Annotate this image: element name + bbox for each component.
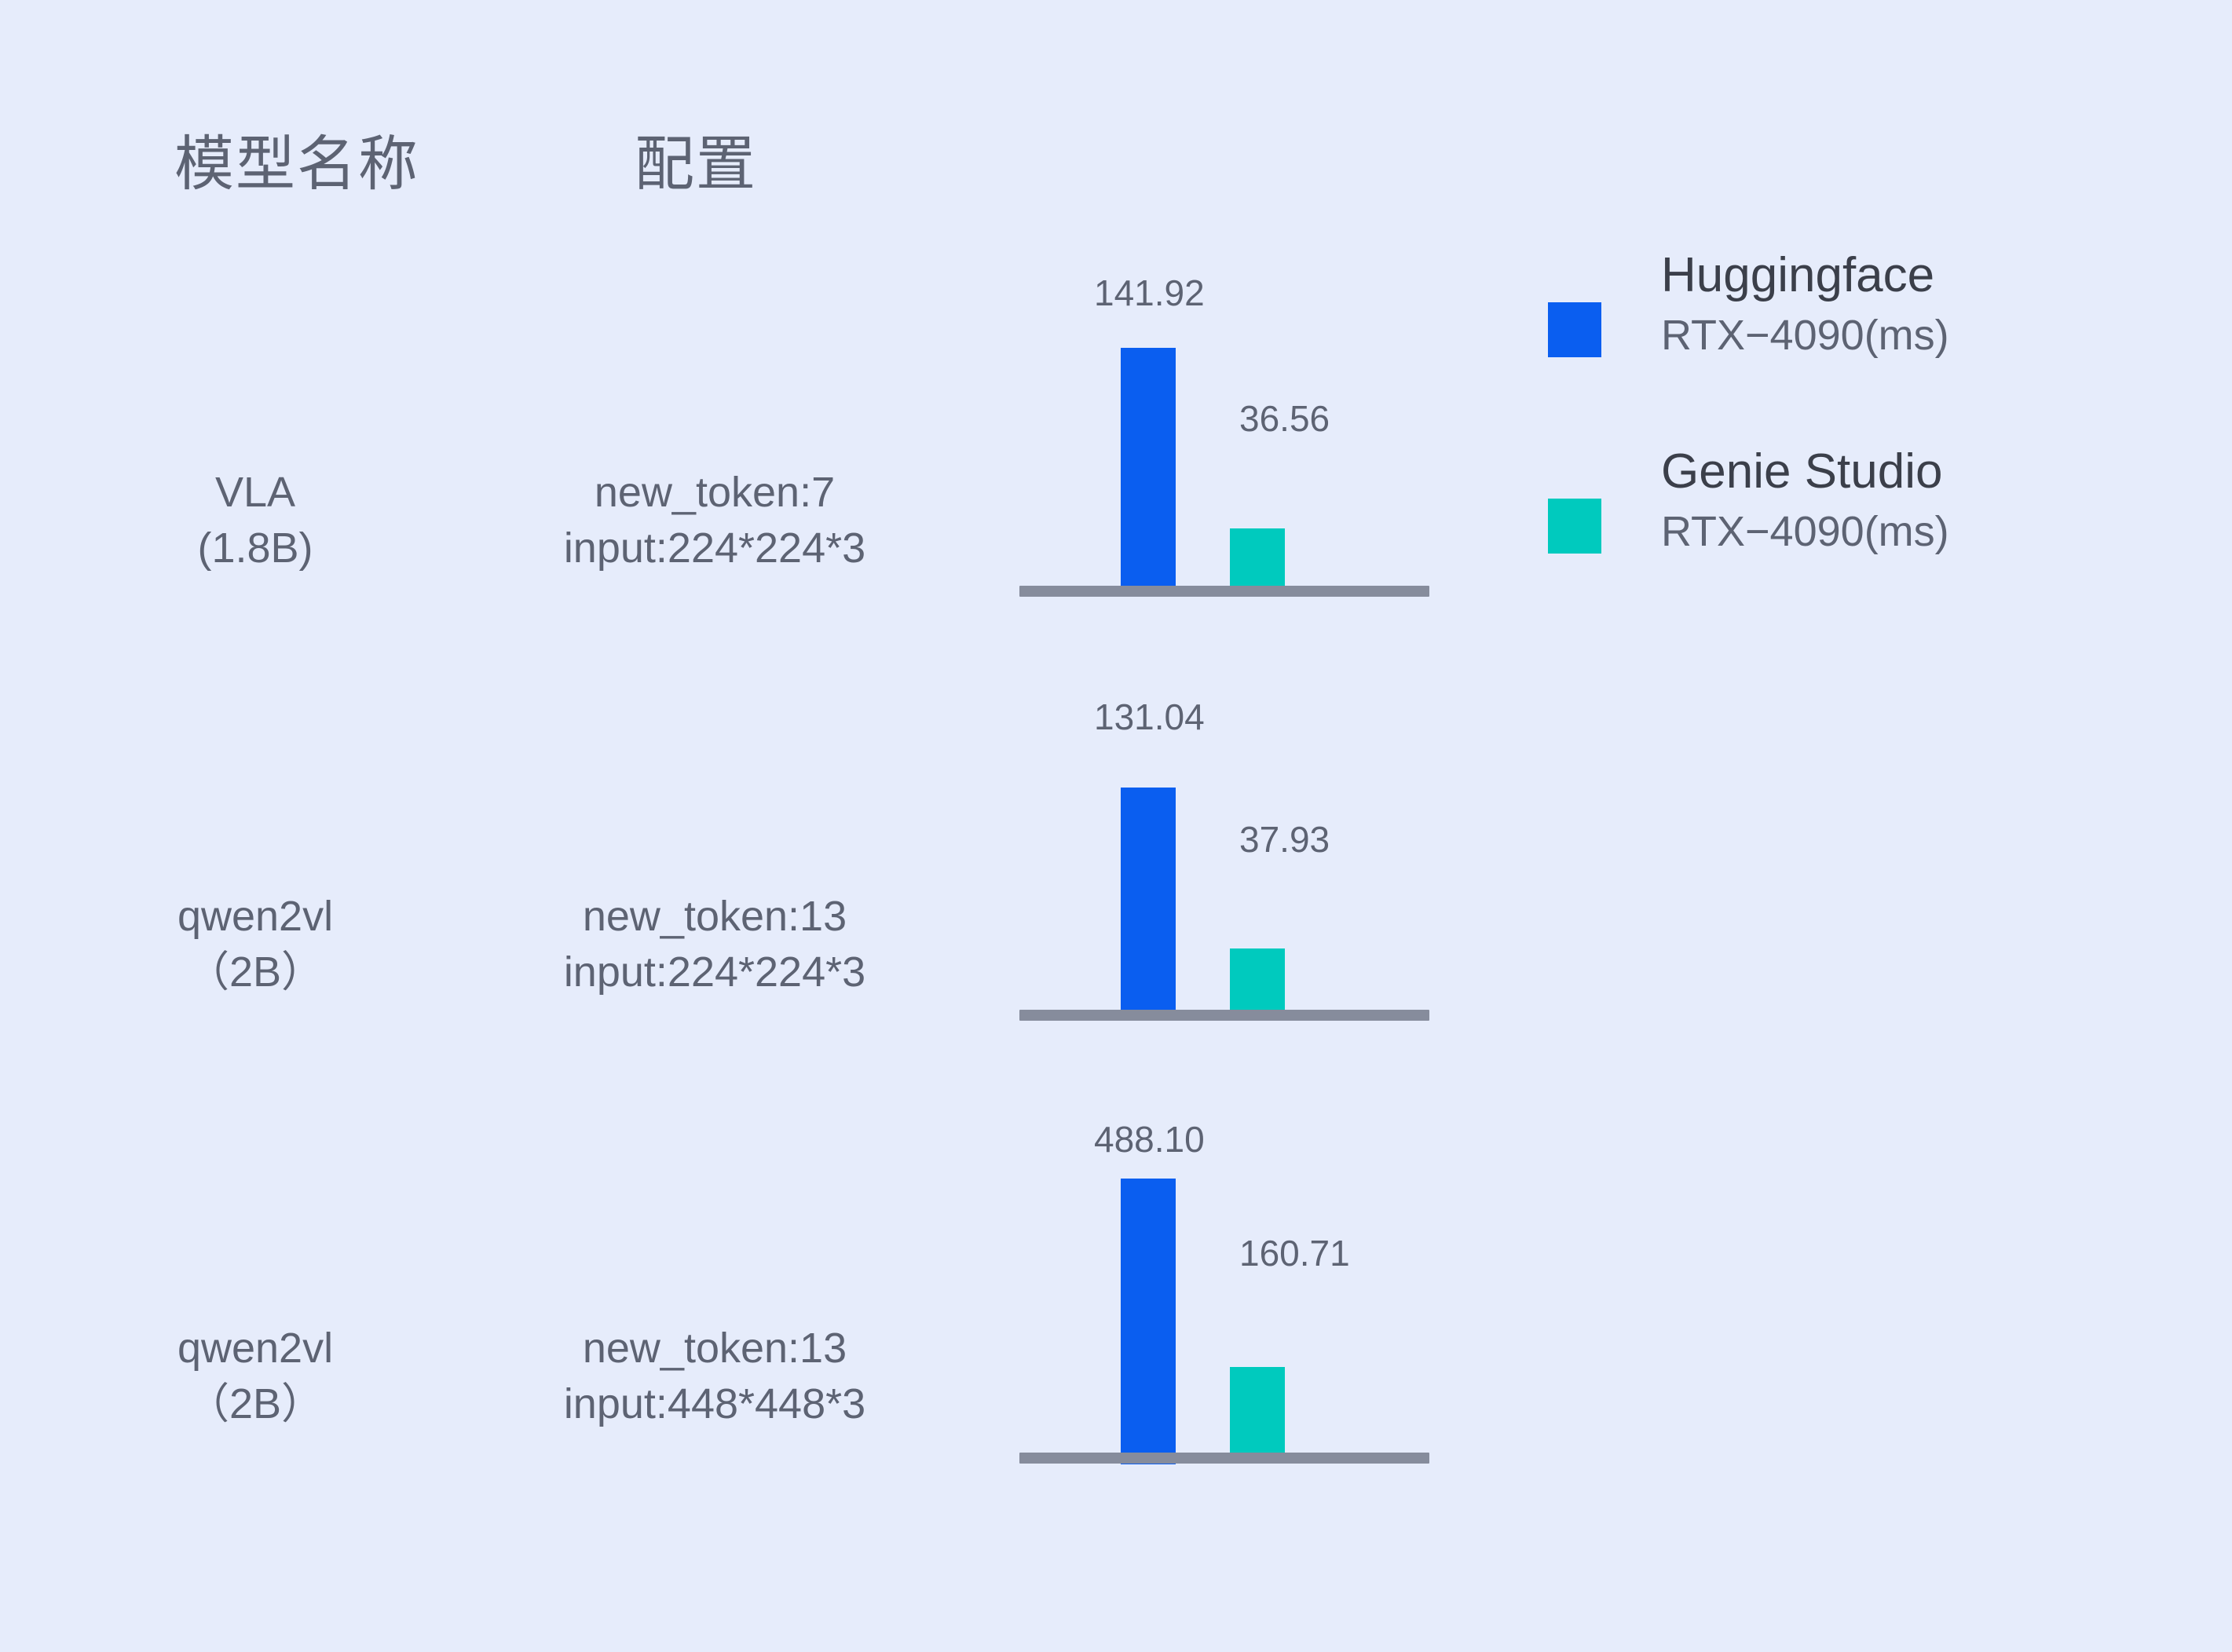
legend-swatch-huggingface <box>1548 302 1601 357</box>
bar-value-genie-studio: 37.93 <box>1239 821 1330 857</box>
bar-value-genie-studio: 36.56 <box>1239 400 1330 437</box>
bar-huggingface[interactable] <box>1121 788 1176 1010</box>
row-model-name: qwen2vl <box>126 1321 385 1376</box>
row-config-input: input:224*224*3 <box>471 521 958 576</box>
legend-item-genie-studio[interactable]: Genie Studio RTX−4090(ms) <box>1548 448 2161 644</box>
row-model-name: qwen2vl <box>126 889 385 945</box>
row-axis-baseline <box>1019 1010 1429 1021</box>
column-header-config: 配置 <box>635 135 757 195</box>
row-config-label: new_token:13 input:224*224*3 <box>471 889 958 1001</box>
bar-genie-studio[interactable] <box>1230 528 1285 586</box>
row-config-input: input:448*448*3 <box>471 1376 958 1432</box>
row-plot-area: 131.04 37.93 <box>1019 683 1429 1021</box>
row-plot-area: 488.10 160.71 <box>1019 1107 1429 1460</box>
legend-subtitle: RTX−4090(ms) <box>1661 505 1949 558</box>
row-config-tokens: new_token:7 <box>471 465 958 521</box>
column-header-model-name: 模型名称 <box>174 135 419 195</box>
chart-legend: Huggingface RTX−4090(ms) Genie Studio RT… <box>1548 251 2161 644</box>
row-axis-baseline <box>1019 1453 1429 1464</box>
row-model-size: (1.8B) <box>126 521 385 576</box>
legend-item-huggingface[interactable]: Huggingface RTX−4090(ms) <box>1548 251 2161 448</box>
legend-text-block: Huggingface RTX−4090(ms) <box>1661 247 1949 362</box>
legend-title: Genie Studio <box>1661 443 1949 500</box>
bar-huggingface[interactable] <box>1121 348 1176 586</box>
row-model-label: qwen2vl （2B） <box>126 1321 385 1433</box>
row-model-size: （2B） <box>126 945 385 1000</box>
legend-swatch-genie-studio <box>1548 499 1601 554</box>
legend-title: Huggingface <box>1661 247 1949 304</box>
row-config-label: new_token:7 input:224*224*3 <box>471 465 958 577</box>
row-model-label: VLA (1.8B) <box>126 465 385 577</box>
bar-value-huggingface: 488.10 <box>1094 1121 1205 1157</box>
chart-row: qwen2vl （2B） new_token:13 input:224*224*… <box>0 683 2232 1076</box>
row-plot-area: 141.92 36.56 <box>1019 259 1429 597</box>
row-model-name: VLA <box>126 465 385 521</box>
bar-genie-studio[interactable] <box>1230 1367 1285 1453</box>
bar-huggingface[interactable] <box>1121 1179 1176 1464</box>
row-config-tokens: new_token:13 <box>471 1321 958 1376</box>
bar-value-huggingface: 141.92 <box>1094 275 1205 311</box>
row-axis-baseline <box>1019 586 1429 597</box>
bar-value-huggingface: 131.04 <box>1094 699 1205 735</box>
bar-genie-studio[interactable] <box>1230 948 1285 1010</box>
row-config-input: input:224*224*3 <box>471 945 958 1000</box>
legend-subtitle: RTX−4090(ms) <box>1661 309 1949 362</box>
row-config-tokens: new_token:13 <box>471 889 958 945</box>
chart-row: qwen2vl （2B） new_token:13 input:448*448*… <box>0 1107 2232 1515</box>
bar-value-genie-studio: 160.71 <box>1239 1235 1350 1271</box>
legend-text-block: Genie Studio RTX−4090(ms) <box>1661 443 1949 558</box>
row-model-size: （2B） <box>126 1376 385 1432</box>
row-model-label: qwen2vl （2B） <box>126 889 385 1001</box>
row-config-label: new_token:13 input:448*448*3 <box>471 1321 958 1433</box>
